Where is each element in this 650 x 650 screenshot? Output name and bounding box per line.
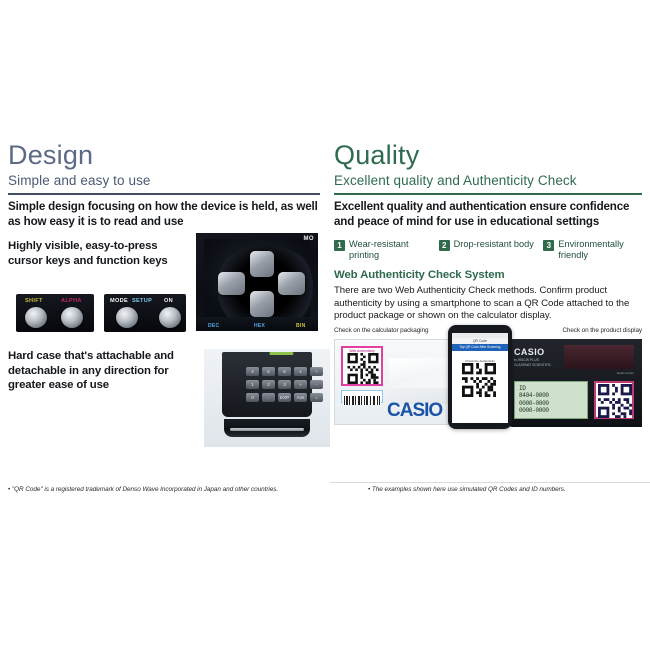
on-key-label: ON xyxy=(164,298,173,304)
design-bullet-1: Highly visible, easy-to-press cursor key… xyxy=(8,239,188,268)
cursor-keys-photo: MO DEC HEX BIN xyxy=(196,233,318,331)
feature-label: Environmentally friendly xyxy=(558,239,642,260)
keypad-key: ÷ xyxy=(310,367,323,376)
mode-key-label: MODE xyxy=(110,298,128,304)
keypad-key: 4 xyxy=(246,367,259,376)
packaging-qr-code-icon: Web Authenticity xyxy=(341,346,383,386)
qr-matrix-icon xyxy=(344,353,382,384)
caption-packaging: Check on the calculator packaging xyxy=(334,327,428,334)
design-divider xyxy=(8,193,320,195)
quality-subheading: Excellent quality and Authenticity Check xyxy=(334,172,642,189)
hard-case-body: 4 5 6 x ÷ 1 2 3 + - 0 . EXP xyxy=(222,355,312,417)
device-lcd-screen xyxy=(564,345,634,369)
keypad-key: = xyxy=(310,393,323,402)
numeric-keypad: 4 5 6 x ÷ 1 2 3 + - 0 . EXP xyxy=(246,367,324,407)
feature-number-badge: 3 xyxy=(543,240,554,251)
design-heading: Design xyxy=(8,140,320,170)
mode-key-icon xyxy=(116,307,138,328)
cursor-photo-footer: DEC HEX BIN xyxy=(196,317,318,331)
quality-feature-1: 1 Wear-resistant printing xyxy=(334,239,433,260)
device-id-line: 8404-0000 xyxy=(519,392,583,399)
cursor-pad-surface xyxy=(204,239,310,317)
caption-product-display: Check on the product display xyxy=(562,327,642,334)
phone-action-bar[interactable]: Tap QR Code After Scanning xyxy=(452,344,508,351)
keypad-key: 6 xyxy=(278,367,291,376)
quality-feature-3: 3 Environmentally friendly xyxy=(543,239,642,260)
web-auth-illustration: Check on the calculator packaging Check … xyxy=(334,327,642,431)
design-lead-text: Simple design focusing on how the device… xyxy=(8,200,320,229)
keypad-key: + xyxy=(294,380,307,389)
quality-divider xyxy=(334,193,642,195)
design-bullet-2: Hard case that's attachable and detachab… xyxy=(8,349,193,392)
pad-tag-bin: BIN xyxy=(296,323,306,329)
quality-heading: Quality xyxy=(334,140,642,170)
design-column: Design Simple and easy to use Simple des… xyxy=(8,140,320,447)
packaging-barcode-icon xyxy=(341,390,383,403)
shift-alpha-photo: SHIFT ALPHA xyxy=(16,294,94,332)
hard-case-lip xyxy=(224,419,310,437)
content-area: Design Simple and easy to use Simple des… xyxy=(0,140,650,510)
alpha-key-icon xyxy=(61,307,83,328)
feature-number-badge: 2 xyxy=(439,240,450,251)
shift-key-icon xyxy=(25,307,47,328)
device-brand-logo: CASIO xyxy=(514,347,545,357)
keypad-key: 0 xyxy=(246,393,259,402)
setup-key-label: SETUP xyxy=(132,298,152,304)
device-model-line-1: fx-991CW PLUS xyxy=(514,358,539,362)
feature-label: Wear-resistant printing xyxy=(349,239,433,260)
device-model-line-2: CLASSWIZ SCIENTIFIC xyxy=(514,363,551,367)
device-display-note: Serial number xyxy=(617,371,634,375)
keypad-key: EXP xyxy=(278,393,291,402)
feature-number-badge: 1 xyxy=(334,240,345,251)
design-subheading: Simple and easy to use xyxy=(8,172,320,189)
footnote-simulated-examples: • The examples shown here use simulated … xyxy=(368,486,566,493)
keypad-key: - xyxy=(310,380,323,389)
cursor-key-left-icon xyxy=(218,272,245,295)
keypad-key: Ans xyxy=(294,393,307,402)
web-auth-section-title: Web Authenticity Check System xyxy=(334,268,642,282)
device-qr-code-icon xyxy=(594,381,634,419)
quality-lead-text: Excellent quality and authentication ens… xyxy=(334,200,642,229)
quality-feature-2: 2 Drop-resistant body xyxy=(439,239,538,260)
pad-tag-hex: HEX xyxy=(254,323,265,329)
feature-label: Drop-resistant body xyxy=(454,239,534,250)
mode-setup-on-photo: MODE SETUP ON xyxy=(104,294,186,332)
alpha-key-label: ALPHA xyxy=(61,298,82,304)
shift-key-label: SHIFT xyxy=(25,298,43,304)
product-display-photo: CASIO fx-991CW PLUS CLASSWIZ SCIENTIFIC … xyxy=(506,339,642,427)
device-id-line: 0000-0000 xyxy=(519,407,583,414)
keypad-key: x xyxy=(294,367,307,376)
web-auth-section-body: There are two Web Authenticity Check met… xyxy=(334,285,642,322)
device-id-label: ID xyxy=(519,385,583,392)
cursor-key-right-icon xyxy=(278,272,305,295)
barcode-lines-icon xyxy=(343,396,381,405)
device-id-panel: ID 8404-0000 0000-0000 0000-0000 xyxy=(514,381,588,419)
cursor-key-down-icon xyxy=(250,291,274,317)
keypad-key: 1 xyxy=(246,380,259,389)
design-media-row: Highly visible, easy-to-press cursor key… xyxy=(8,239,320,447)
smartphone-screen: QR Code Tap QR Code After Scanning Check… xyxy=(452,333,508,423)
hard-case-photo: 4 5 6 x ÷ 1 2 3 + - 0 . EXP xyxy=(204,349,330,447)
qr-matrix-icon xyxy=(597,384,633,418)
keypad-key: 2 xyxy=(262,380,275,389)
on-key-icon xyxy=(159,307,181,328)
device-id-line: 0000-0000 xyxy=(519,400,583,407)
footnote-qr-trademark: • "QR Code" is a registered trademark of… xyxy=(8,486,278,493)
footnote-divider xyxy=(330,482,650,483)
keypad-key: 3 xyxy=(278,380,291,389)
phone-qr-panel: Check the Authenticity xyxy=(460,359,500,403)
page-root: Design Simple and easy to use Simple des… xyxy=(0,0,650,650)
qr-matrix-icon xyxy=(460,363,498,397)
keypad-key: 5 xyxy=(262,367,275,376)
photo-corner-label: MO xyxy=(304,236,314,242)
package-brand-logo: CASIO xyxy=(387,400,442,422)
smartphone-photo: QR Code Tap QR Code After Scanning Check… xyxy=(448,325,512,429)
quality-column: Quality Excellent quality and Authentici… xyxy=(334,140,642,431)
keypad-key: . xyxy=(262,393,275,402)
pad-tag-dec: DEC xyxy=(208,323,219,329)
cursor-key-up-icon xyxy=(250,251,274,277)
quality-features-list: 1 Wear-resistant printing 2 Drop-resista… xyxy=(334,239,642,260)
